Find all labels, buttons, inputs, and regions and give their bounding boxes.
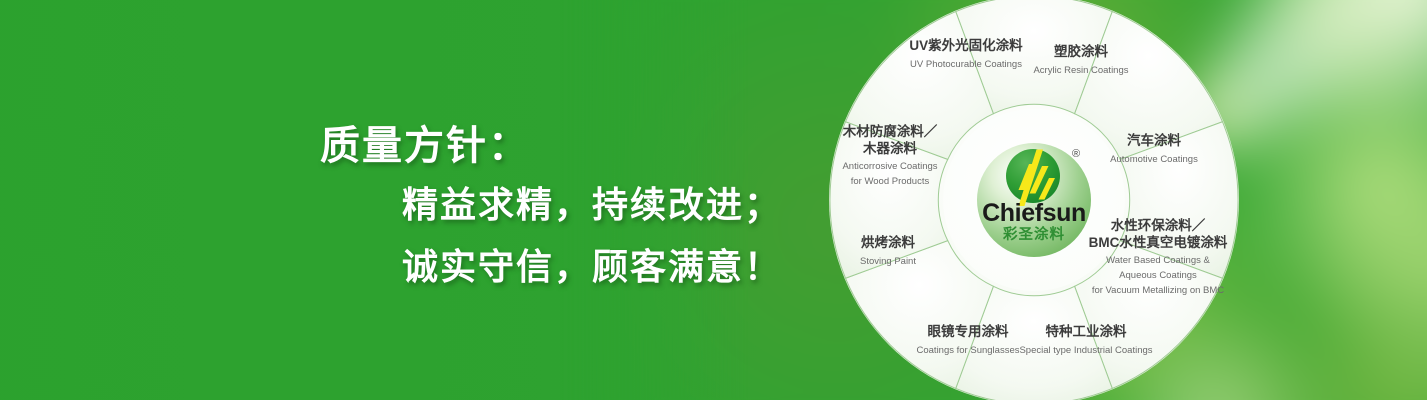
label-special-en-1: Special type Industrial Coatings — [1019, 345, 1152, 356]
label-wood-en-2: for Wood Products — [851, 176, 930, 187]
registered-trademark-mark: ® — [1072, 148, 1080, 160]
label-uv-cn-1: UV紫外光固化涂料 — [909, 37, 1023, 53]
label-special-cn-1: 特种工业涂料 — [1046, 323, 1127, 339]
label-water-cn-2: BMC水性真空电镀涂料 — [1089, 234, 1228, 250]
label-acrylic-en-1: Acrylic Resin Coatings — [1033, 65, 1128, 76]
label-acrylic-cn-1: 塑胶涂料 — [1054, 43, 1108, 59]
chiefsun-logo[interactable]: ® Chiefsun 彩圣涂料 — [977, 143, 1091, 257]
label-stoving-cn-1: 烘烤涂料 — [861, 234, 915, 250]
quality-policy-slogan: 质量方针： 精益求精，持续改进； 诚实守信，顾客满意！ — [318, 118, 788, 298]
logo-brand-en: Chiefsun — [982, 199, 1086, 227]
slogan-line-3: 诚实守信，顾客满意！ — [318, 236, 788, 298]
label-wood-en-1: Anticorrosive Coatings — [842, 161, 937, 172]
logo-brand-cn: 彩圣涂料 — [1002, 225, 1065, 243]
label-uv-en-1: UV Photocurable Coatings — [910, 59, 1022, 70]
product-category-wheel: UV紫外光固化涂料 UV Photocurable Coatings 塑胶涂料 … — [828, 0, 1240, 400]
label-stoving-en-1: Stoving Paint — [860, 256, 916, 267]
label-automotive-cn-1: 汽车涂料 — [1127, 132, 1181, 148]
label-water-en-3: for Vacuum Metallizing on BMC — [1092, 285, 1224, 296]
label-sunglasses-en-1: Coatings for Sunglasses — [917, 345, 1020, 356]
label-automotive-en-1: Automotive Coatings — [1110, 154, 1198, 165]
slogan-line-2: 精益求精，持续改进； — [318, 174, 788, 236]
label-water-en-2: Aqueous Coatings — [1119, 270, 1197, 281]
label-water-en-1: Water Based Coatings & — [1106, 255, 1210, 266]
label-wood-cn-2: 木器涂料 — [862, 140, 917, 156]
label-sunglasses-cn-1: 眼镜专用涂料 — [928, 323, 1009, 339]
promotional-banner: 质量方针： 精益求精，持续改进； 诚实守信，顾客满意！ — [0, 0, 1427, 400]
label-wood-cn-1: 木材防腐涂料／ — [842, 123, 938, 139]
label-water-cn-1: 水性环保涂料／ — [1111, 217, 1206, 233]
slogan-heading: 质量方针： — [318, 118, 788, 174]
